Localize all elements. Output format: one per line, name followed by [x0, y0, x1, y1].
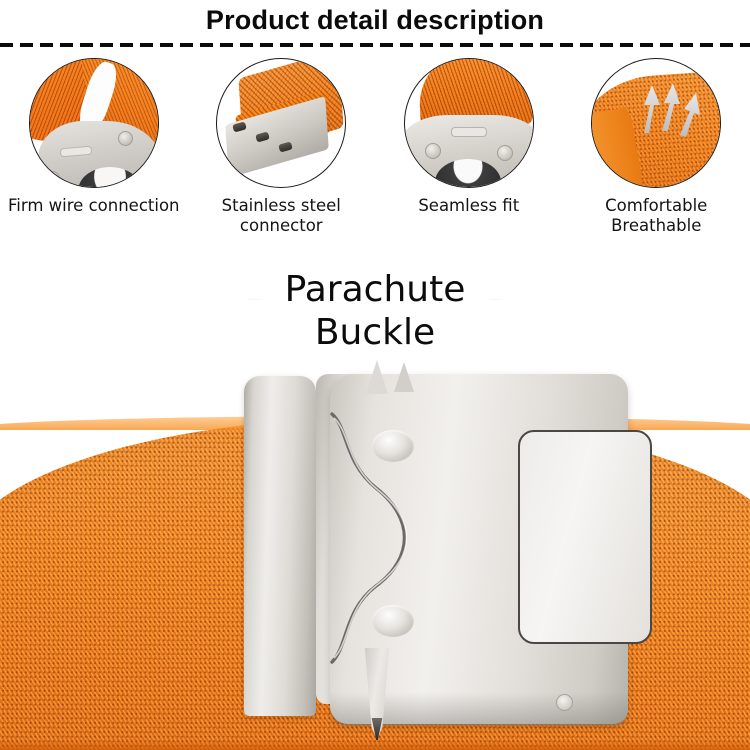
feature-list: Firm wire connection Stainless steel con… [0, 58, 750, 250]
feature-image-seamless-fit [404, 58, 534, 188]
feature-caption: Firm wire connection [4, 196, 184, 216]
feature-image-comfortable-breathable [591, 58, 721, 188]
page-title: Product detail description [0, 2, 750, 38]
connector-slot-shape [451, 127, 487, 137]
screw-icon [118, 131, 133, 146]
dashed-divider [0, 43, 750, 47]
buckle-release-seam [318, 370, 478, 710]
hero-heading: Parachute Buckle [0, 268, 750, 354]
feature-caption: Comfortable Breathable [566, 196, 746, 236]
strap-bottom-edge [0, 740, 750, 750]
product-detail-page: Product detail description Firm wire con… [0, 0, 750, 750]
parachute-buckle [0, 300, 750, 750]
buckle-small-rivet [556, 694, 573, 711]
buckle-keeper-bar [244, 376, 316, 716]
feature-caption: Stainless steel connector [191, 196, 371, 236]
hero-heading-line1: Parachute [0, 268, 750, 311]
feature-item-comfortable-breathable: Comfortable Breathable [563, 58, 750, 250]
buckle-rivet-bottom [372, 605, 414, 637]
screw-icon [425, 143, 441, 159]
feature-caption: Seamless fit [379, 196, 559, 216]
feature-item-firm-wire-connection: Firm wire connection [0, 58, 188, 250]
buckle-rivet-top [372, 430, 414, 462]
hero-product-image [0, 300, 750, 750]
buckle-inset-panel [518, 430, 652, 644]
screw-icon [497, 145, 513, 161]
screw-icon [45, 171, 60, 186]
feature-image-firm-wire-connection [29, 58, 159, 188]
feature-item-seamless-fit: Seamless fit [375, 58, 563, 250]
airflow-arrows-icon [592, 59, 720, 187]
feature-item-stainless-steel-connector: Stainless steel connector [188, 58, 376, 250]
feature-image-stainless-steel-connector [216, 58, 346, 188]
hero-heading-line2: Buckle [0, 311, 750, 354]
